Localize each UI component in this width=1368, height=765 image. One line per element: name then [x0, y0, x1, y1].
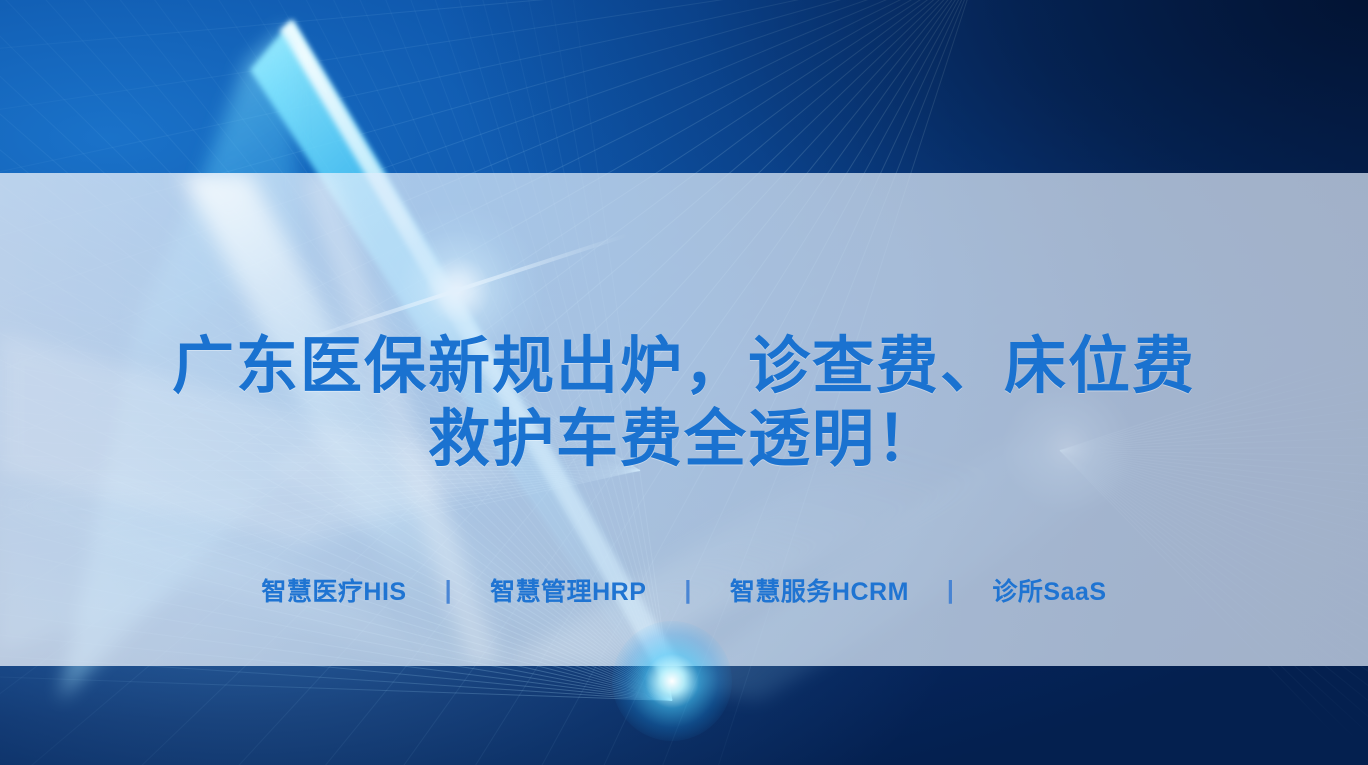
headline-line-1: 广东医保新规出炉，诊查费、床位费: [40, 330, 1328, 403]
product-item-hcrm: 智慧服务HCRM: [730, 572, 909, 608]
product-item-his: 智慧医疗HIS: [261, 572, 406, 608]
separator-1: |: [445, 576, 453, 605]
separator-2: |: [684, 576, 692, 605]
headline-line-2: 救护车费全透明！: [40, 403, 1328, 476]
product-item-saas: 诊所SaaS: [992, 572, 1106, 608]
product-list: 智慧医疗HIS | 智慧管理HRP | 智慧服务HCRM | 诊所SaaS: [0, 572, 1368, 608]
banner-image: 广东医保新规出炉，诊查费、床位费 救护车费全透明！ 智慧医疗HIS | 智慧管理…: [0, 0, 1368, 765]
product-item-hrp: 智慧管理HRP: [490, 572, 646, 608]
separator-3: |: [947, 576, 955, 605]
headline: 广东医保新规出炉，诊查费、床位费 救护车费全透明！: [0, 330, 1368, 476]
